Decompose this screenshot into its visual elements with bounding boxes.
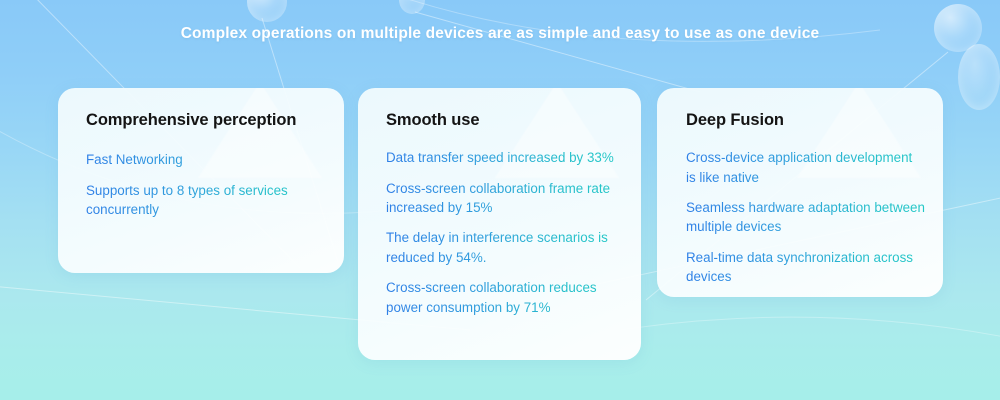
feature-list-item: Cross-device application development is … <box>686 148 925 187</box>
feature-list-item: Supports up to 8 types of services concu… <box>86 181 320 220</box>
feature-list-item: Seamless hardware adaptation between mul… <box>686 198 925 237</box>
feature-card-comprehensive-perception: Comprehensive perception Fast Networking… <box>58 88 344 273</box>
feature-list-item: Real-time data synchronization across de… <box>686 248 925 287</box>
card-heading: Comprehensive perception <box>86 110 320 131</box>
feature-list-item: Data transfer speed increased by 33% <box>386 148 621 167</box>
connector-line-icon <box>415 12 700 92</box>
feature-list-item: Cross-screen collaboration reduces power… <box>386 278 621 317</box>
page-title: Complex operations on multiple devices a… <box>0 25 1000 43</box>
feature-card-deep-fusion: Deep Fusion Cross-device application dev… <box>657 88 943 297</box>
feature-list: Data transfer speed increased by 33% Cro… <box>386 148 621 317</box>
feature-list: Fast Networking Supports up to 8 types o… <box>86 150 320 219</box>
feature-card-smooth-use: Smooth use Data transfer speed increased… <box>358 88 641 360</box>
card-heading: Deep Fusion <box>686 110 925 131</box>
bubble-icon <box>399 0 425 14</box>
feature-highlight-banner: Complex operations on multiple devices a… <box>0 0 1000 400</box>
feature-list-item: Fast Networking <box>86 150 320 169</box>
arc-line-icon <box>620 317 1000 340</box>
card-heading: Smooth use <box>386 110 621 131</box>
feature-list-item: Cross-screen collaboration frame rate in… <box>386 179 621 218</box>
feature-list: Cross-device application development is … <box>686 148 925 287</box>
bubble-icon <box>247 0 287 22</box>
bubble-icon <box>958 44 1000 110</box>
feature-list-item: The delay in interference scenarios is r… <box>386 228 621 267</box>
